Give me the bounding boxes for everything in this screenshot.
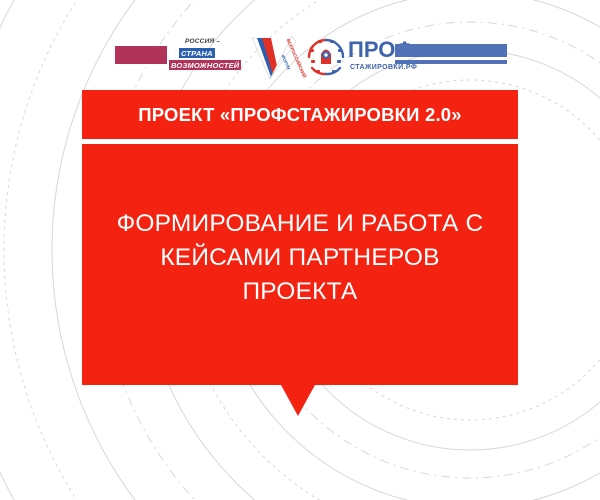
project-title: ПРОЕКТ «ПРОФСТАЖИРОВКИ 2.0» (138, 104, 462, 126)
slide-canvas: РОССИЯ – СТРАНА ВОЗМОЖНОСТЕЙ ВСЕРОССИЙСК… (0, 0, 600, 500)
callout-header-band: ПРОЕКТ «ПРОФСТАЖИРОВКИ 2.0» (82, 90, 518, 139)
slide-headline: ФОРМИРОВАНИЕ И РАБОТА С КЕЙСАМИ ПАРТНЕРО… (82, 207, 518, 309)
rsv-square-icon (115, 46, 167, 64)
callout-pointer-tail (281, 385, 315, 416)
red-callout-bubble: ПРОЕКТ «ПРОФСТАЖИРОВКИ 2.0» ФОРМИРОВАНИЕ… (82, 90, 518, 385)
partner-logo-strip: РОССИЯ – СТРАНА ВОЗМОЖНОСТЕЙ ВСЕРОССИЙСК… (110, 30, 510, 84)
blue-bar-main (395, 44, 507, 57)
v-tricolor-logo: ВСЕРОССИЙСКИЙ ФОРУМ (250, 32, 312, 84)
callout-body-band: ФОРМИРОВАНИЕ И РАБОТА С КЕЙСАМИ ПАРТНЕРО… (82, 144, 518, 385)
rsv-line-3: ВОЗМОЖНОСТЕЙ (169, 60, 241, 70)
rsv-wordmark: РОССИЯ – СТРАНА ВОЗМОЖНОСТЕЙ (169, 36, 251, 78)
rsv-line-2: СТРАНА (179, 48, 215, 58)
gear-emblem-icon (306, 37, 346, 77)
rsv-line-1: РОССИЯ – (183, 36, 222, 46)
partner-blue-bar-logo (395, 44, 507, 70)
blue-bar-underline (395, 60, 507, 64)
rossiya-strana-vozmozhnostey-logo: РОССИЯ – СТРАНА ВОЗМОЖНОСТЕЙ (115, 36, 251, 80)
